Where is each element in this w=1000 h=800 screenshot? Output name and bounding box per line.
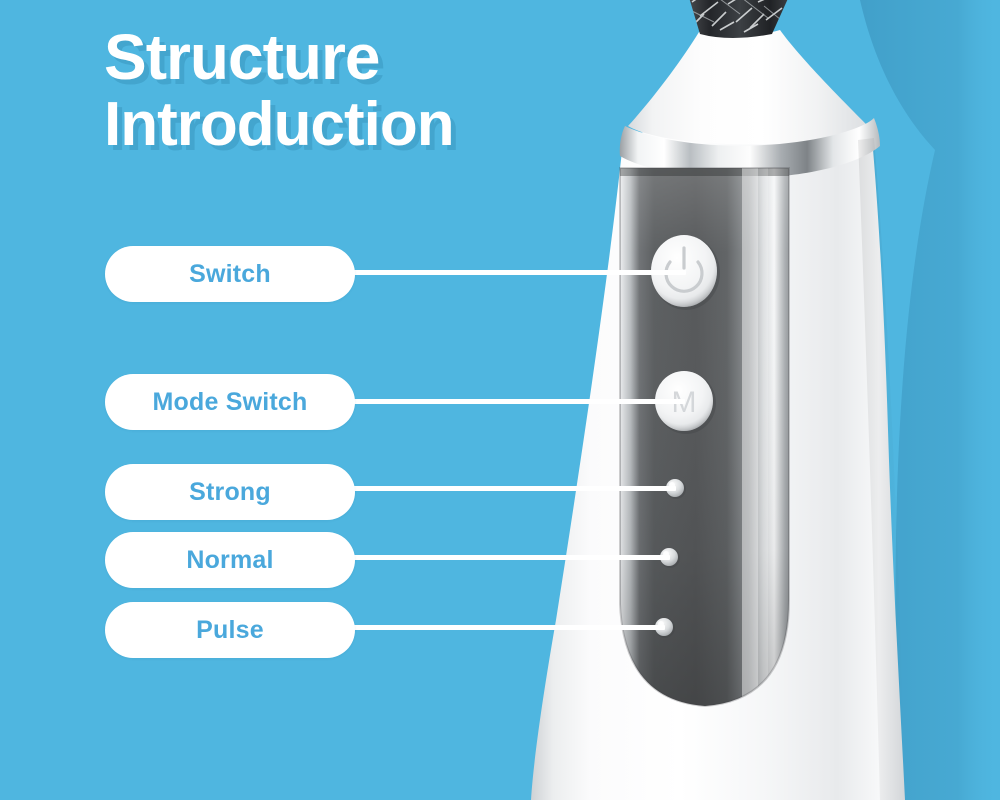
- connector-strong: [330, 486, 676, 491]
- connector-normal: [330, 555, 670, 560]
- label-text-normal: Normal: [186, 546, 273, 575]
- connector-switch: [330, 270, 686, 275]
- connector-mode-switch: [330, 399, 685, 404]
- device-upper-cone: [628, 30, 872, 145]
- label-pill-strong[interactable]: Strong: [105, 464, 355, 520]
- label-pill-pulse[interactable]: Pulse: [105, 602, 355, 658]
- label-pill-normal[interactable]: Normal: [105, 532, 355, 588]
- label-pill-switch[interactable]: Switch: [105, 246, 355, 302]
- connector-pulse: [330, 625, 665, 630]
- label-pill-mode-switch[interactable]: Mode Switch: [105, 374, 355, 430]
- label-text-switch: Switch: [189, 260, 271, 289]
- infographic-canvas: M Switch Mode: [0, 0, 1000, 800]
- label-text-mode-switch: Mode Switch: [153, 388, 308, 417]
- label-text-pulse: Pulse: [196, 616, 264, 645]
- label-text-strong: Strong: [189, 478, 271, 507]
